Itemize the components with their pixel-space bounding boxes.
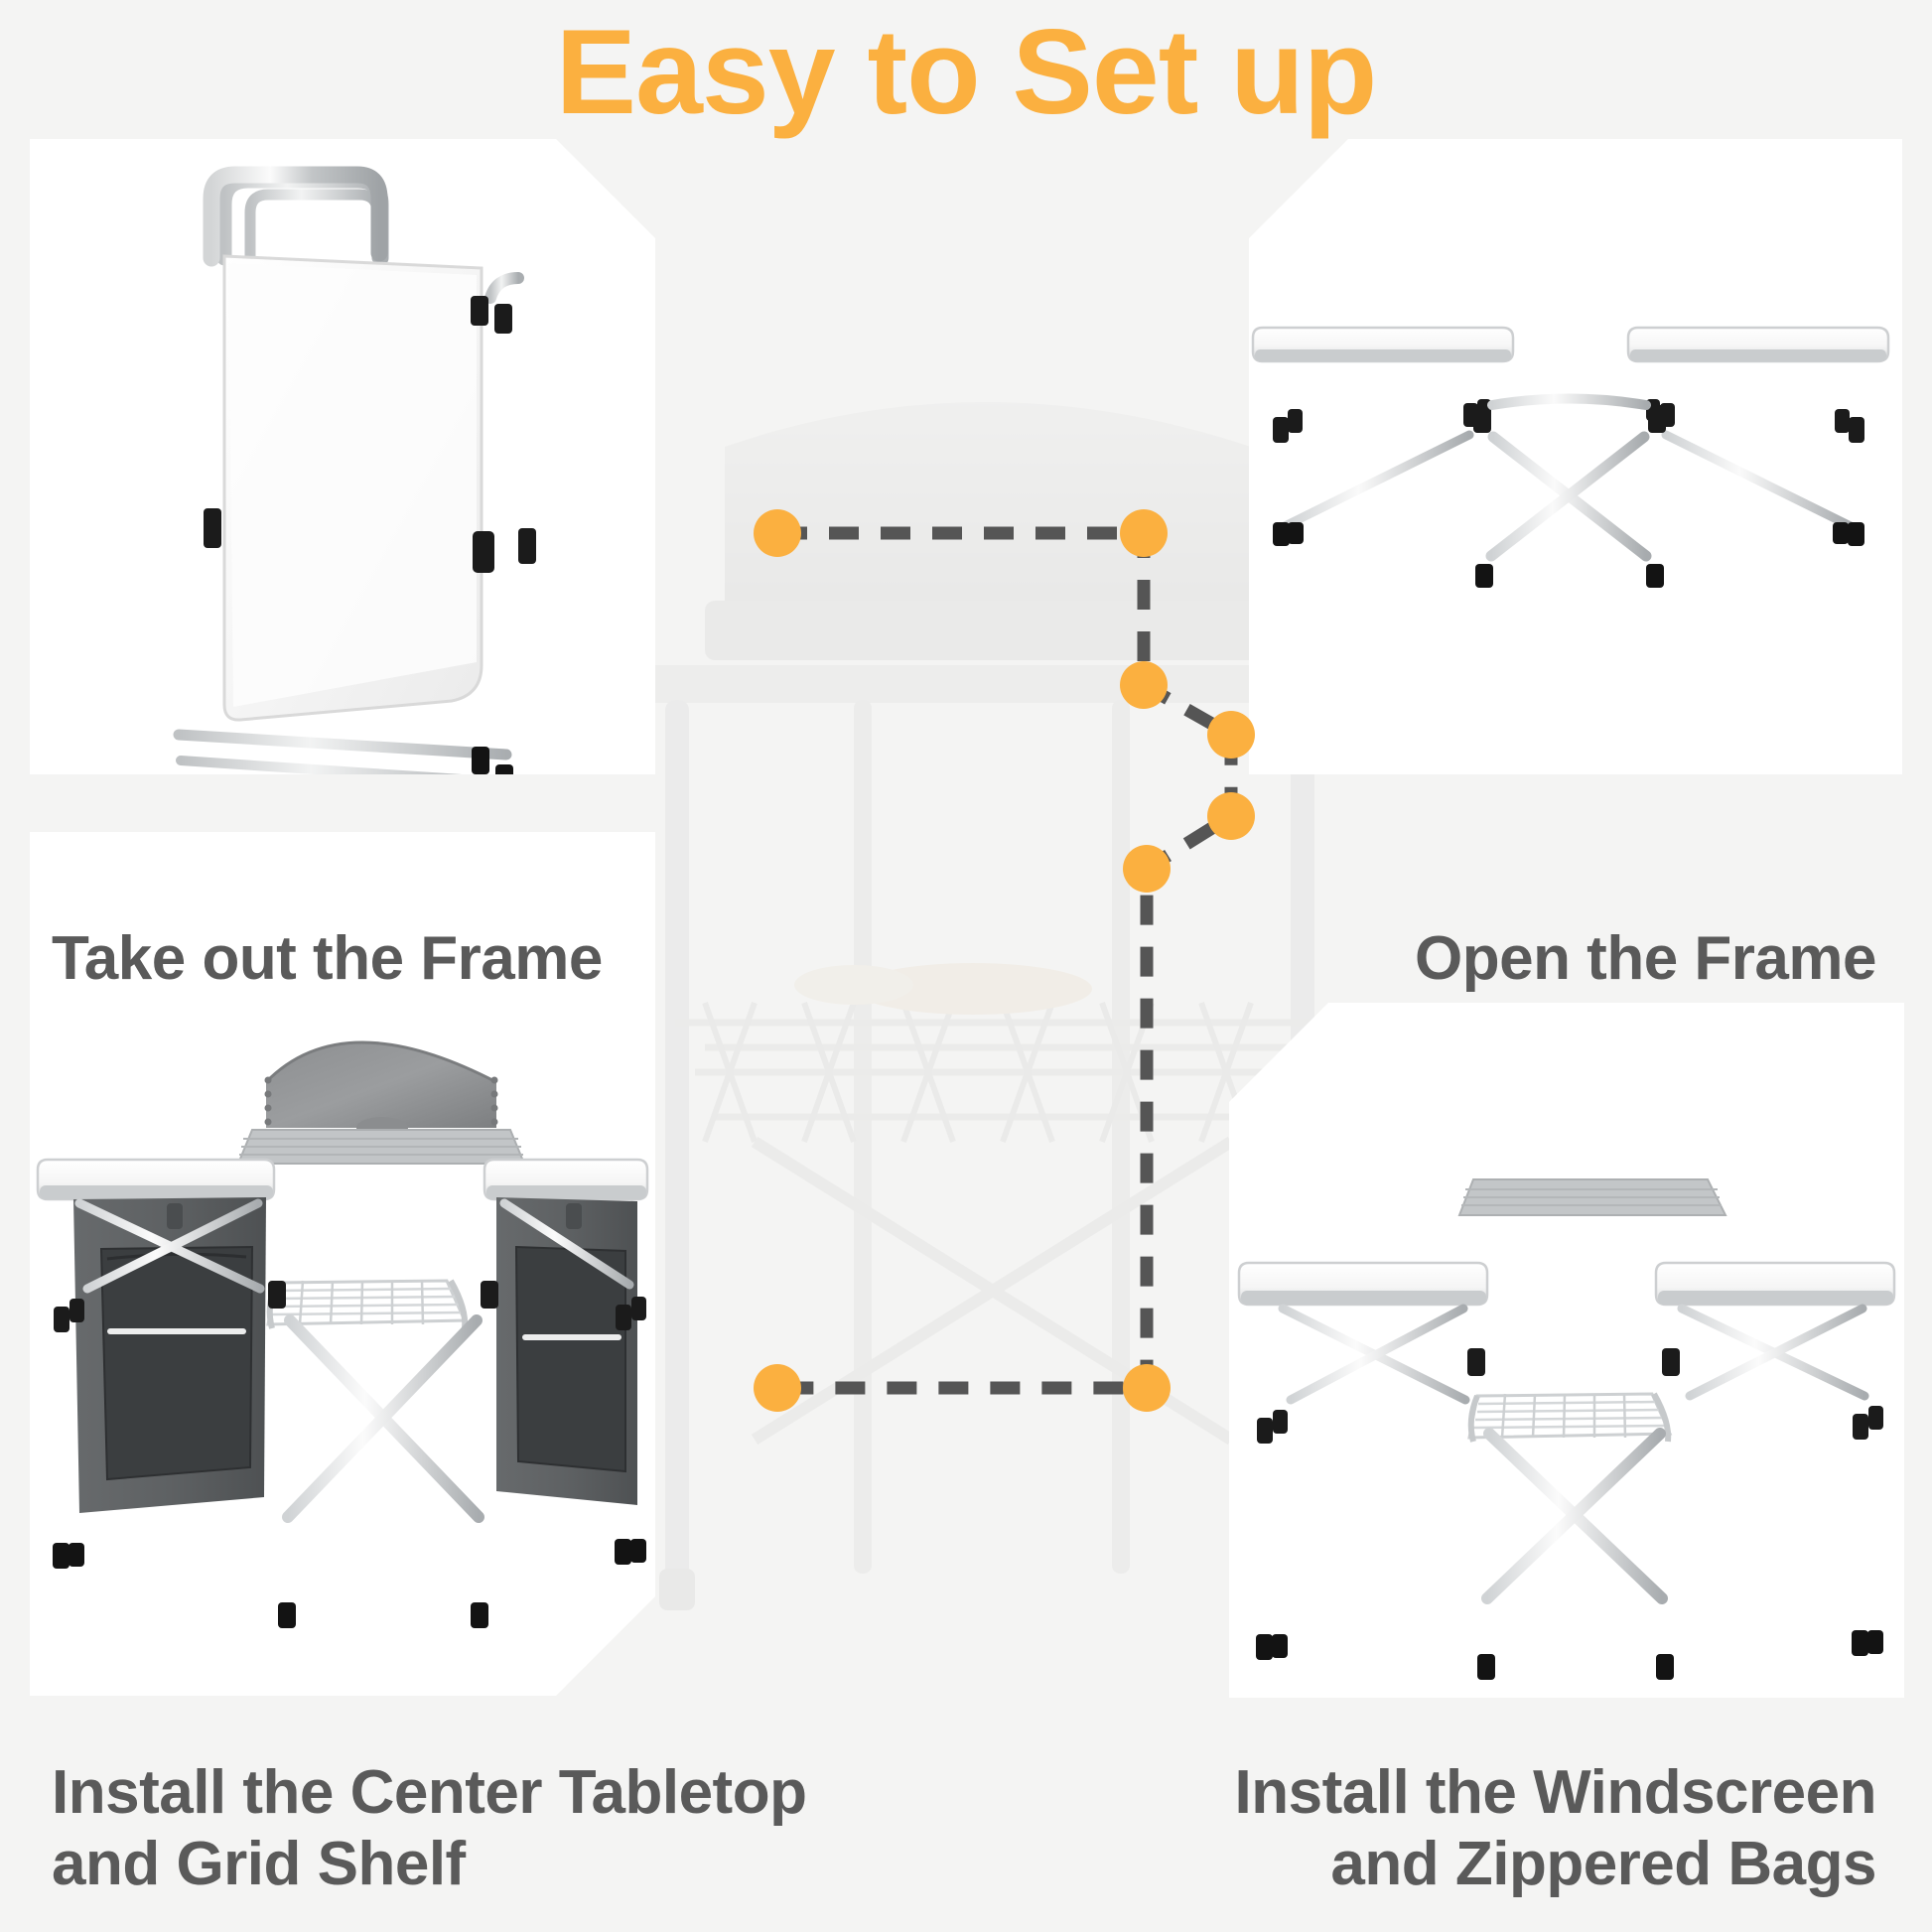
caption-open-the-frame: Open the Frame	[993, 923, 1876, 995]
connector-node-dot-1	[754, 509, 801, 557]
center-tabletop-and-grid-shelf-illustration	[1229, 1003, 1904, 1698]
connector-node-dot-7	[1123, 1364, 1171, 1412]
connector-node-dot-2	[1120, 509, 1168, 557]
connector-node-dot-8	[754, 1364, 801, 1412]
folded-frame-illustration	[30, 139, 655, 774]
connector-node-dot-3	[1120, 661, 1168, 709]
step-panel-take-out-the-frame[interactable]	[30, 139, 655, 774]
step-panel-open-the-frame[interactable]	[1249, 139, 1902, 774]
infographic-root: Easy to Set up	[0, 0, 1932, 1932]
caption-install-center-tabletop-and-grid-shelf: Install the Center Tabletop and Grid She…	[52, 1757, 806, 1900]
caption-take-out-the-frame: Take out the Frame	[52, 923, 603, 995]
opened-frame-illustration	[1249, 139, 1902, 774]
connector-node-dot-5	[1207, 792, 1255, 840]
caption-install-windscreen-and-zippered-bags: Install the Windscreen and Zippered Bags	[993, 1757, 1876, 1900]
connector-node-dot-4	[1207, 711, 1255, 759]
connector-node-dot-6	[1123, 845, 1171, 893]
page-title: Easy to Set up	[0, 8, 1932, 135]
step-panel-install-windscreen-and-zippered-bags[interactable]	[1229, 1003, 1904, 1698]
